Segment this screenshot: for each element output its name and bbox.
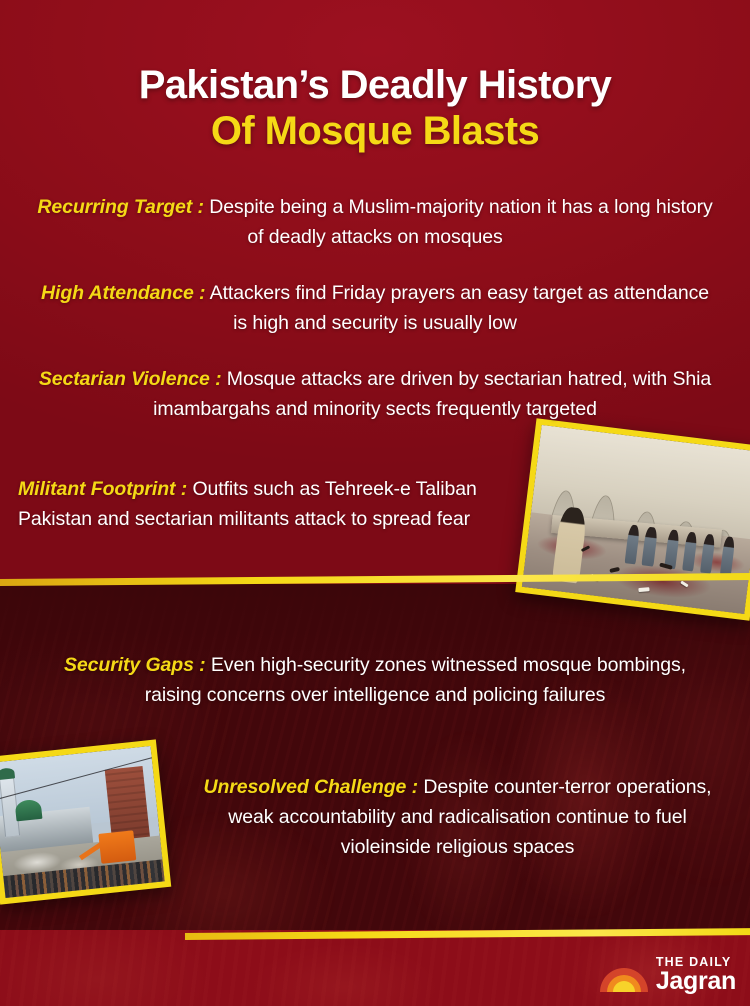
infographic-poster: Pakistan’s Deadly History Of Mosque Blas… [0, 0, 750, 1006]
title-line-2: Of Mosque Blasts [0, 108, 750, 154]
point-security-gaps: Security Gaps : Even high-security zones… [35, 650, 715, 710]
point-lead-sectarian-violence: Sectarian Violence : [39, 368, 222, 390]
mosque-dome [15, 799, 43, 822]
sunrise-icon [600, 958, 648, 992]
point-body-security-gaps: Even high-security zones witnessed mosqu… [145, 654, 686, 706]
logo-wordmark: THE DAILY Jagran [656, 956, 736, 995]
photo-collapsed-mosque-scene [0, 746, 165, 898]
point-unresolved-challenge: Unresolved Challenge : Despite counter-t… [185, 772, 730, 862]
page-title: Pakistan’s Deadly History Of Mosque Blas… [0, 62, 750, 154]
excavator [99, 830, 137, 863]
photo-mosque-interior [515, 418, 750, 620]
point-high-attendance: High Attendance : Attackers find Friday … [35, 278, 715, 338]
daily-jagran-logo: THE DAILY Jagran [600, 950, 736, 1000]
title-line-1: Pakistan’s Deadly History [0, 62, 750, 108]
point-lead-security-gaps: Security Gaps : [64, 654, 206, 676]
point-lead-recurring-target: Recurring Target : [37, 196, 204, 218]
photo-collapsed-mosque [0, 739, 171, 904]
point-recurring-target: Recurring Target : Despite being a Musli… [35, 192, 715, 252]
point-lead-militant-footprint: Militant Footprint : [18, 478, 187, 500]
point-body-sectarian-violence: Mosque attacks are driven by sectarian h… [153, 368, 711, 420]
point-militant-footprint: Militant Footprint : Outfits such as Teh… [18, 474, 538, 534]
point-lead-unresolved-challenge: Unresolved Challenge : [203, 776, 418, 798]
point-sectarian-violence: Sectarian Violence : Mosque attacks are … [35, 364, 715, 424]
point-body-recurring-target: Despite being a Muslim-majority nation i… [204, 196, 713, 248]
logo-line-jagran: Jagran [656, 969, 736, 994]
point-lead-high-attendance: High Attendance : [41, 282, 205, 304]
photo-mosque-interior-scene [522, 425, 750, 614]
point-body-high-attendance: Attackers find Friday prayers an easy ta… [205, 282, 709, 334]
